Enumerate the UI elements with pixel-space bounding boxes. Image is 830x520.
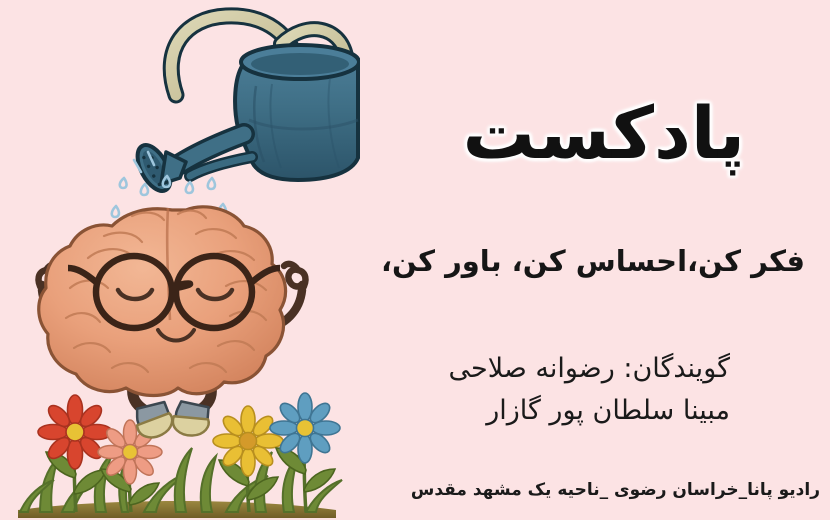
- page-title: پادکست: [463, 96, 745, 172]
- station-credit: رادیو پانا_خراسان رضوی _ناحیه یک مشهد مق…: [411, 480, 820, 500]
- speakers-line-1: گویندگان: رضوانه صلاحی: [449, 348, 730, 390]
- podcast-poster: پادکست فکر کن،احساس کن، باور کن، گویندگا…: [0, 0, 830, 520]
- flower-yellow-icon: [213, 406, 283, 512]
- speakers-list: گویندگان: رضوانه صلاحی مبینا سلطان پور گ…: [449, 348, 730, 432]
- poster-subtitle: فکر کن،احساس کن، باور کن،: [381, 244, 805, 278]
- poster-text-block: پادکست فکر کن،احساس کن، باور کن، گویندگا…: [300, 0, 830, 520]
- speakers-line-2: مبینا سلطان پور گازار: [449, 390, 730, 432]
